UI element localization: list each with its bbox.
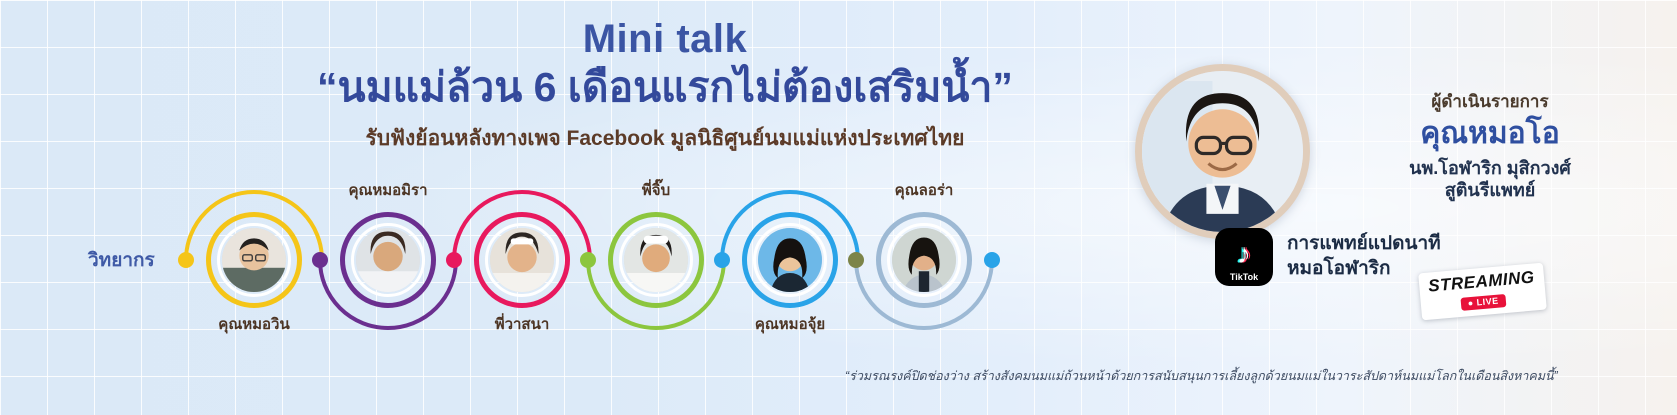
- portrait-illustration: [222, 228, 286, 292]
- tiktok-note-white: ♪: [1237, 238, 1251, 269]
- speaker-photo-3: [490, 228, 554, 292]
- tiktok-note-glyph: ♪ ♪ ♪: [1237, 240, 1251, 268]
- page-title: Mini talk: [250, 18, 1080, 61]
- headline-block: Mini talk “นมแม่ล้วน 6 เดือนแรกไม่ต้องเส…: [250, 18, 1080, 151]
- portrait-illustration: [490, 228, 554, 292]
- streaming-badge: STREAMING ● LIVE: [1418, 263, 1546, 321]
- speaker-label-4: พี่จิ๊บ: [558, 178, 754, 202]
- speaker-label-1: คุณหมอวิน: [156, 312, 352, 336]
- speaker-avatar-3[interactable]: [474, 212, 570, 308]
- portrait-illustration: [624, 228, 688, 292]
- tiktok-channel-row[interactable]: ♪ ♪ ♪ TikTok การแพทย์แปดนาที หมอโอฬาริก: [1215, 228, 1441, 286]
- host-portrait-illustration: [1142, 71, 1303, 232]
- host-full-name: นพ.โอฬาริก มุสิกวงศ์: [1320, 157, 1660, 180]
- mini-talk-banner: Mini talk “นมแม่ล้วน 6 เดือนแรกไม่ต้องเส…: [0, 0, 1677, 415]
- host-specialty: สูตินรีแพทย์: [1320, 179, 1660, 202]
- speaker-photo-6: [892, 228, 956, 292]
- tiktok-channel-line1: การแพทย์แปดนาที: [1287, 232, 1441, 257]
- speaker-label-5: คุณหมอจุ้ย: [692, 312, 888, 336]
- host-avatar[interactable]: [1135, 64, 1310, 239]
- portrait-illustration: [356, 228, 420, 292]
- speaker-avatar-5[interactable]: [742, 212, 838, 308]
- speaker-label-2: คุณหมอมิรา: [290, 178, 486, 202]
- live-badge: ● LIVE: [1460, 294, 1506, 311]
- speaker-avatar-4[interactable]: [608, 212, 704, 308]
- speaker-photo-4: [624, 228, 688, 292]
- speaker-label-3: พี่วาสนา: [424, 312, 620, 336]
- speaker-avatar-1[interactable]: [206, 212, 302, 308]
- host-panel: ผู้ดำเนินรายการ คุณหมอโอ นพ.โอฬาริก มุสิ…: [1110, 40, 1670, 380]
- tiktok-icon[interactable]: ♪ ♪ ♪ TikTok: [1215, 228, 1273, 286]
- host-text-block: ผู้ดำเนินรายการ คุณหมอโอ นพ.โอฬาริก มุสิ…: [1320, 88, 1660, 202]
- portrait-illustration: [892, 228, 956, 292]
- speaker-photo-5: [758, 228, 822, 292]
- host-nickname: คุณหมอโอ: [1320, 117, 1660, 152]
- headline-subtitle: รับฟังย้อนหลังทางเพจ Facebook มูลนิธิศูน…: [250, 126, 1080, 151]
- streaming-label: STREAMING: [1428, 267, 1536, 296]
- speaker-avatar-6[interactable]: [876, 212, 972, 308]
- portrait-illustration: [758, 228, 822, 292]
- footnote-text: “ร่วมรณรงค์ปิดช่องว่าง สร้างสังคมนมแม่ถ้…: [845, 366, 1655, 386]
- tiktok-channel-name: การแพทย์แปดนาที หมอโอฬาริก: [1287, 232, 1441, 281]
- speaker-photo-2: [356, 228, 420, 292]
- speaker-avatar-2[interactable]: [340, 212, 436, 308]
- headline-quote: “นมแม่ล้วน 6 เดือนแรกไม่ต้องเสริมน้ำ”: [250, 63, 1080, 111]
- speakers-row: คุณหมอวิน คุณหมอมิรา: [0, 170, 1060, 350]
- speaker-label-6: คุณลอร่า: [826, 178, 1022, 202]
- tiktok-wordmark: TikTok: [1230, 272, 1258, 282]
- speaker-photo-1: [222, 228, 286, 292]
- host-role-label: ผู้ดำเนินรายการ: [1320, 88, 1660, 115]
